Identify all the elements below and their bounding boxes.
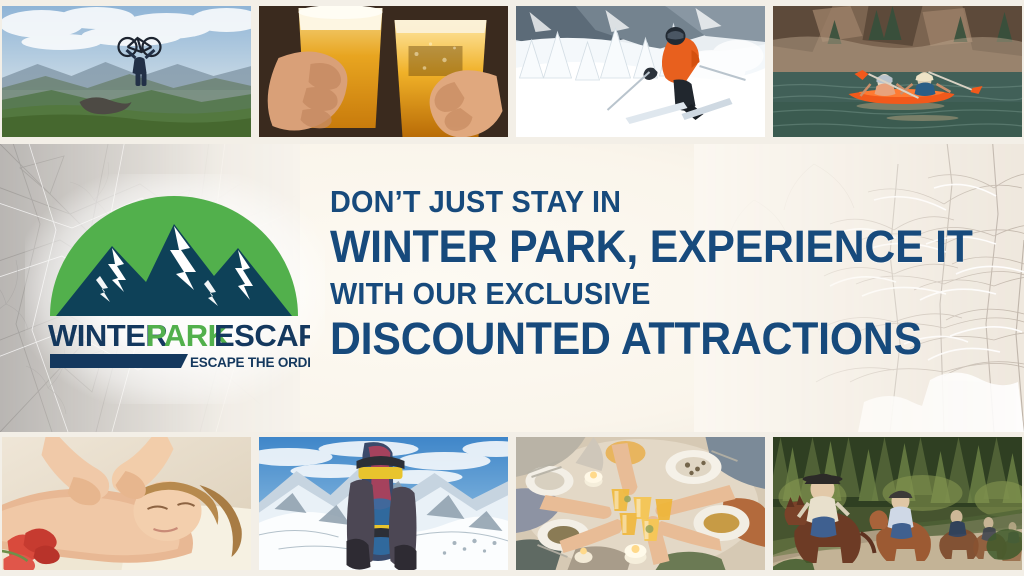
photo-spa-massage — [2, 437, 251, 570]
middle-content-band: WINTER PARK ESCAPES ESCAPE THE ORDINARY … — [0, 144, 1024, 432]
photo-strip-bottom — [0, 437, 1024, 570]
photo-group-dining — [516, 437, 765, 570]
headline-line-4: DISCOUNTED ATTRACTIONS — [330, 316, 957, 361]
winter-park-escapes-logo: WINTER PARK ESCAPES ESCAPE THE ORDINARY — [38, 184, 310, 384]
headline-line-3: WITH OUR EXCLUSIVE — [330, 278, 944, 309]
photo-kayaking — [773, 6, 1022, 137]
headline-line-2: WINTER PARK, EXPERIENCE IT — [330, 224, 957, 269]
photo-snowboarding — [259, 437, 508, 570]
headline-block: DON’T JUST STAY IN WINTER PARK, EXPERIEN… — [330, 186, 990, 361]
photo-skiing — [516, 6, 765, 137]
photo-strip-top — [0, 6, 1024, 137]
photo-mountain-biking — [2, 6, 251, 137]
photo-beer-cheers — [259, 6, 508, 137]
headline-line-1: DON’T JUST STAY IN — [330, 186, 944, 217]
photo-horseback-riding — [773, 437, 1022, 570]
svg-text:ESCAPES: ESCAPES — [214, 318, 310, 353]
promotional-banner: WINTER PARK ESCAPES ESCAPE THE ORDINARY … — [0, 0, 1024, 576]
svg-text:ESCAPE THE ORDINARY: ESCAPE THE ORDINARY — [190, 355, 310, 370]
